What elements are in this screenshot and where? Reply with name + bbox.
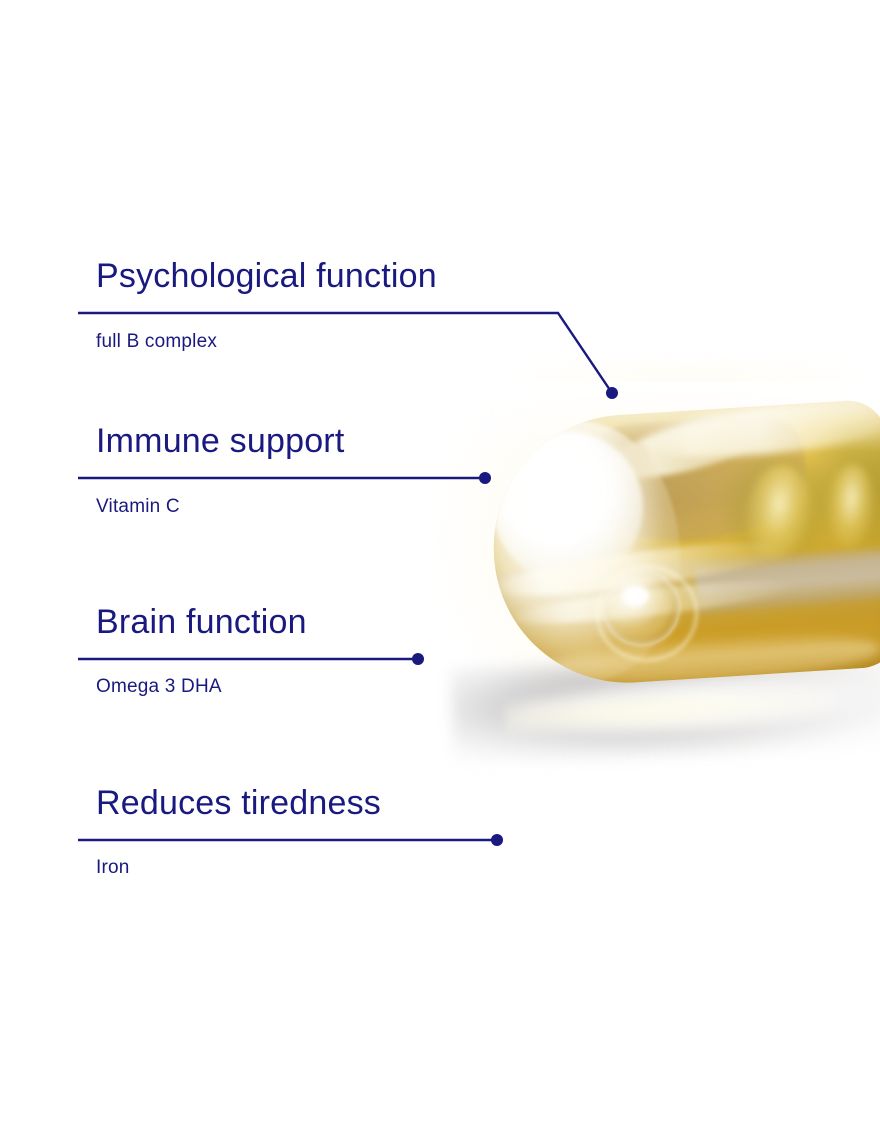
callout-title-psychological-function: Psychological function <box>96 259 437 293</box>
leader-endpoint-dot-psychological-function <box>606 387 618 399</box>
leader-line-psychological-function <box>78 313 612 393</box>
callout-subtitle-reduces-tiredness: Iron <box>96 858 130 877</box>
leader-endpoint-dot-brain-function <box>412 653 424 665</box>
leader-endpoint-dot-immune-support <box>479 472 491 484</box>
callout-subtitle-psychological-function: full B complex <box>96 332 217 351</box>
callout-subtitle-brain-function: Omega 3 DHA <box>96 677 222 696</box>
leader-lines-layer <box>0 0 880 1141</box>
callout-subtitle-immune-support: Vitamin C <box>96 497 180 516</box>
callout-title-brain-function: Brain function <box>96 605 307 639</box>
callout-title-reduces-tiredness: Reduces tiredness <box>96 786 381 820</box>
leader-endpoint-dot-reduces-tiredness <box>491 834 503 846</box>
infographic-canvas: Psychological function full B complex Im… <box>0 0 880 1141</box>
callout-title-immune-support: Immune support <box>96 424 344 458</box>
